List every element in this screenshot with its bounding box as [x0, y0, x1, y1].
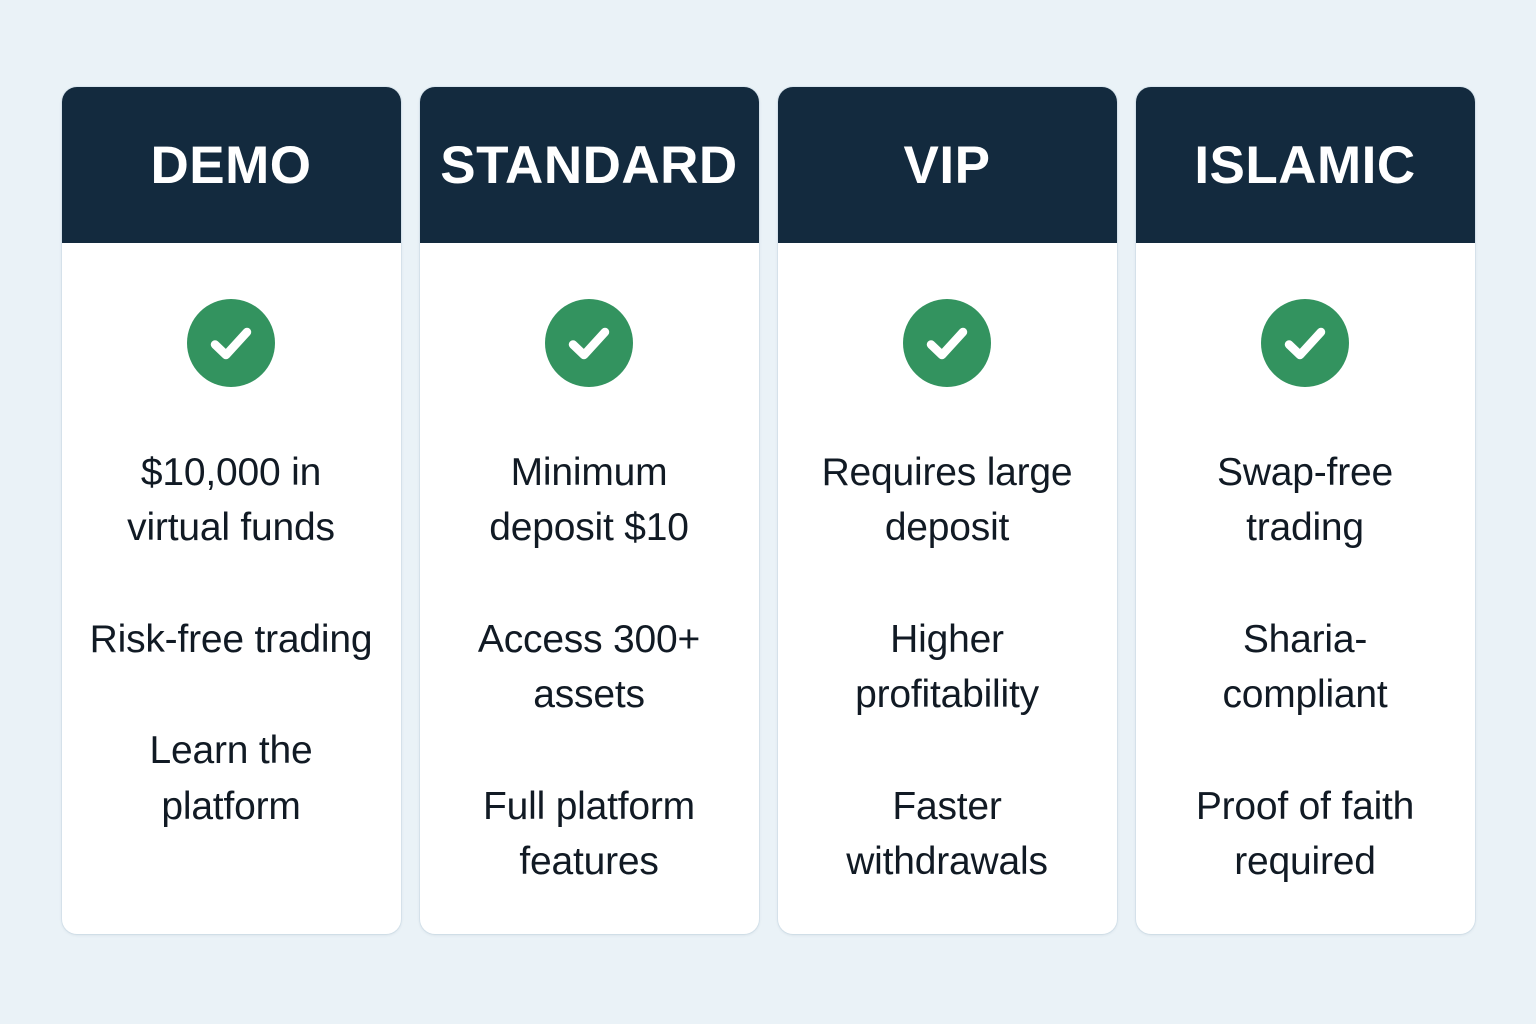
feature-list-standard: Minimum deposit $10 Access 300+ assets F…	[446, 445, 733, 889]
card-header-vip: VIP	[778, 87, 1117, 243]
feature-item: Minimum deposit $10	[446, 445, 733, 556]
card-body-standard: Minimum deposit $10 Access 300+ assets F…	[420, 243, 759, 934]
card-body-islamic: Swap-free trading Sharia-compliant Proof…	[1136, 243, 1475, 934]
account-types-comparison: DEMO $10,000 in virtual funds Risk-free …	[0, 0, 1536, 1024]
feature-list-demo: $10,000 in virtual funds Risk-free tradi…	[88, 445, 375, 834]
card-body-demo: $10,000 in virtual funds Risk-free tradi…	[62, 243, 401, 934]
feature-item: Faster withdrawals	[804, 779, 1091, 890]
check-circle-icon	[187, 299, 275, 387]
card-body-vip: Requires large deposit Higher profitabil…	[778, 243, 1117, 934]
card-title-islamic: ISLAMIC	[1194, 139, 1415, 192]
feature-item: Higher profitability	[804, 612, 1091, 723]
check-circle-icon	[1261, 299, 1349, 387]
feature-item: Full platform features	[446, 779, 733, 890]
card-header-standard: STANDARD	[420, 87, 759, 243]
card-title-demo: DEMO	[151, 139, 312, 192]
feature-item: Swap-free trading	[1162, 445, 1449, 556]
account-card-islamic[interactable]: ISLAMIC Swap-free trading Sharia-complia…	[1136, 87, 1475, 934]
check-circle-icon	[903, 299, 991, 387]
feature-item: Learn the platform	[88, 723, 375, 834]
card-title-standard: STANDARD	[440, 139, 737, 192]
feature-item: Sharia-compliant	[1162, 612, 1449, 723]
account-card-standard[interactable]: STANDARD Minimum deposit $10 Access 300+…	[420, 87, 759, 934]
account-card-list: DEMO $10,000 in virtual funds Risk-free …	[62, 87, 1475, 934]
feature-item: $10,000 in virtual funds	[88, 445, 375, 556]
card-title-vip: VIP	[904, 139, 991, 192]
feature-item: Risk-free trading	[90, 612, 373, 667]
feature-item: Proof of faith required	[1162, 779, 1449, 890]
account-card-vip[interactable]: VIP Requires large deposit Higher profit…	[778, 87, 1117, 934]
card-header-demo: DEMO	[62, 87, 401, 243]
feature-list-islamic: Swap-free trading Sharia-compliant Proof…	[1162, 445, 1449, 889]
check-circle-icon	[545, 299, 633, 387]
feature-list-vip: Requires large deposit Higher profitabil…	[804, 445, 1091, 889]
feature-item: Access 300+ assets	[446, 612, 733, 723]
account-card-demo[interactable]: DEMO $10,000 in virtual funds Risk-free …	[62, 87, 401, 934]
feature-item: Requires large deposit	[804, 445, 1091, 556]
card-header-islamic: ISLAMIC	[1136, 87, 1475, 243]
